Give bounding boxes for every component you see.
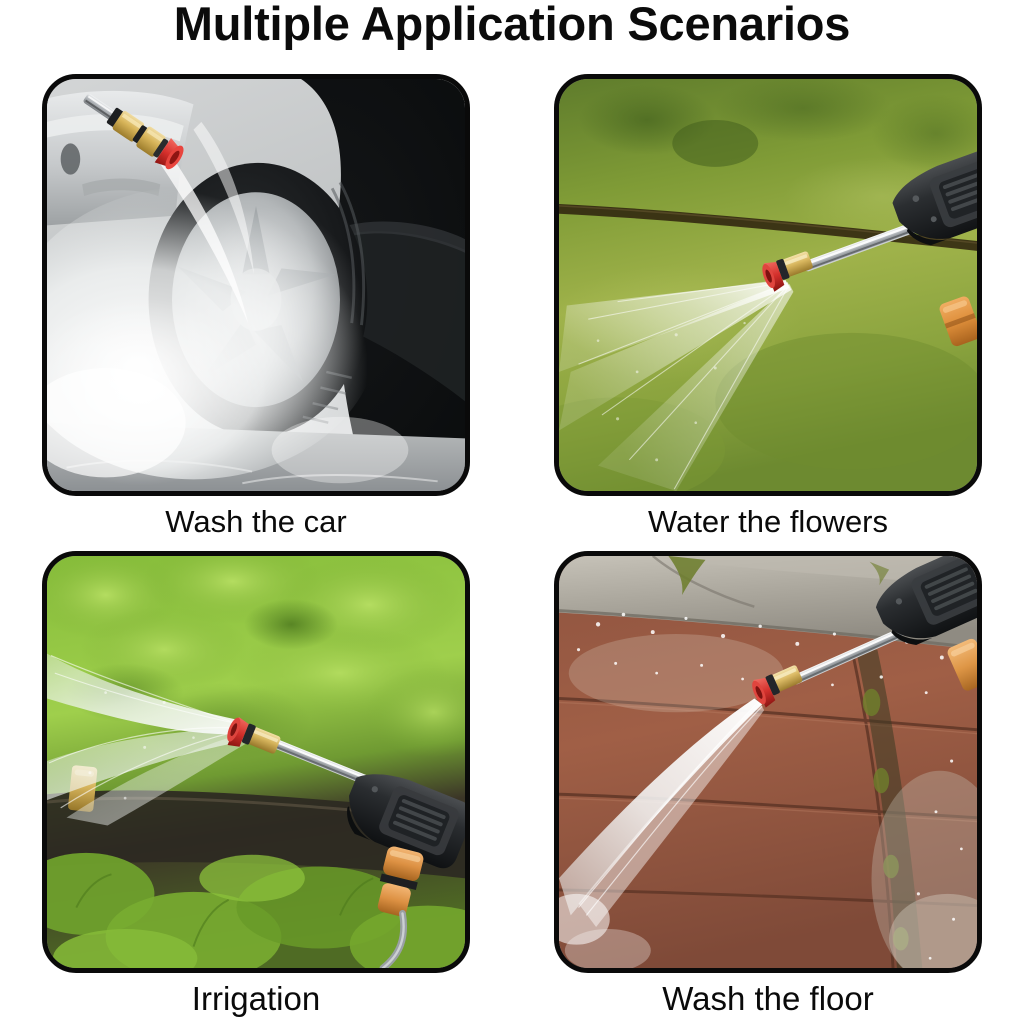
photo-wash-the-car bbox=[42, 74, 470, 496]
caption-wash-the-floor: Wash the floor bbox=[554, 979, 982, 1019]
photo-inner-wash-the-car bbox=[47, 79, 465, 491]
scenario-card-irrigation[interactable] bbox=[42, 551, 470, 973]
caption-irrigation: Irrigation bbox=[42, 979, 470, 1019]
wash-floor-illustration bbox=[559, 556, 977, 968]
infographic-page: Multiple Application Scenarios bbox=[0, 0, 1024, 1024]
photo-inner-water-the-flowers bbox=[559, 79, 977, 491]
scenario-card-water-the-flowers[interactable] bbox=[554, 74, 982, 496]
irrigation-illustration bbox=[47, 556, 465, 968]
scenario-card-wash-the-car[interactable] bbox=[42, 74, 470, 496]
photo-water-the-flowers bbox=[554, 74, 982, 496]
caption-wash-the-car: Wash the car bbox=[42, 503, 470, 541]
scenario-grid: Wash the car bbox=[0, 0, 1024, 1024]
caption-water-the-flowers: Water the flowers bbox=[554, 503, 982, 541]
photo-inner-irrigation bbox=[47, 556, 465, 968]
car-wash-illustration bbox=[47, 79, 465, 491]
photo-irrigation bbox=[42, 551, 470, 973]
photo-wash-the-floor bbox=[554, 551, 982, 973]
scenario-card-wash-the-floor[interactable] bbox=[554, 551, 982, 973]
water-flowers-illustration bbox=[559, 79, 977, 491]
photo-inner-wash-the-floor bbox=[559, 556, 977, 968]
